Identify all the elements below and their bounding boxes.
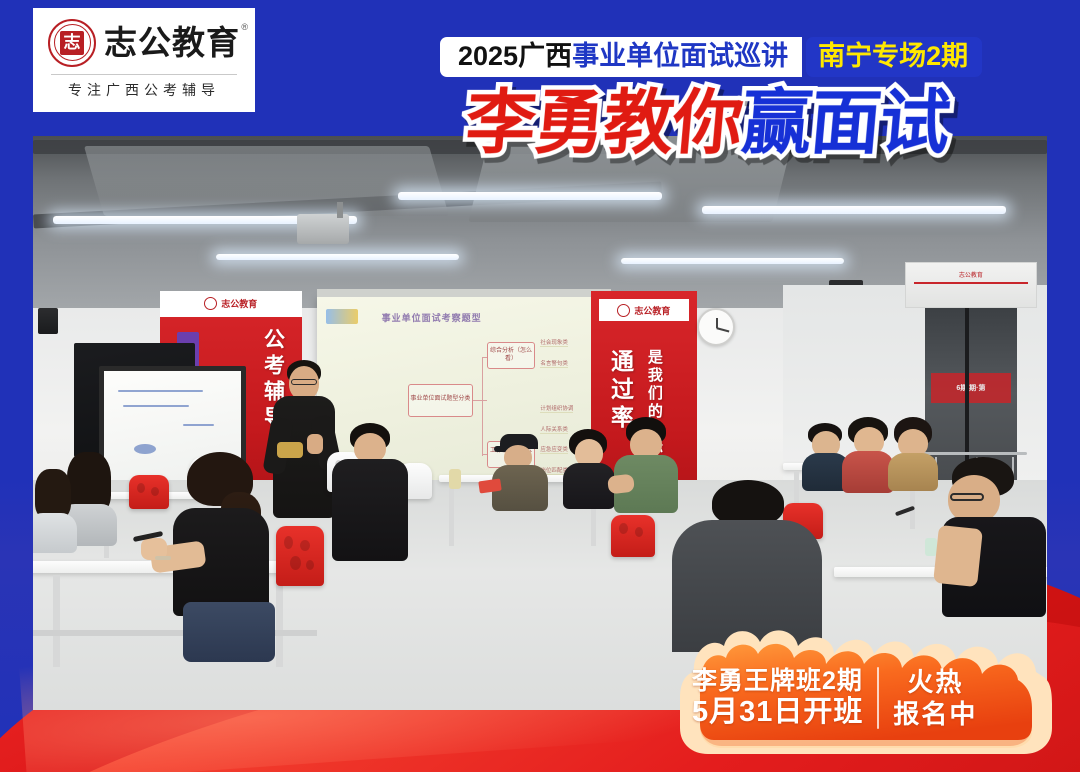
chair-red — [129, 475, 169, 509]
door-header-sign: 志公教育 — [905, 262, 1037, 308]
seal-icon: 志 — [48, 19, 96, 67]
seal-character: 志 — [60, 31, 84, 55]
student-black-shirt — [565, 429, 613, 505]
desk-leg — [449, 483, 454, 546]
class-start-date: 5月31日开班 — [692, 697, 863, 727]
enrollment-badge[interactable]: 李勇王牌班2期 5月31日开班 火热 报名中 — [666, 620, 1066, 760]
student-glasses — [950, 493, 984, 501]
student-cap — [494, 434, 546, 506]
student-foreground-right — [946, 457, 1047, 617]
slide-leaf: 名言警句类 — [540, 359, 568, 368]
ceiling-duct — [84, 146, 449, 216]
seal-icon — [204, 297, 217, 310]
brand-tagline: 专注广西公考辅导 — [68, 80, 220, 100]
door-sign-text: 志公教育 — [906, 270, 1036, 279]
door-sign-rule — [914, 282, 1028, 284]
whiteboard-scribble — [123, 405, 189, 407]
headline-part-blue: 赢面试 — [739, 88, 952, 158]
event-year-region: 2025广西 — [458, 43, 572, 70]
enrollment-status-line1: 火热 — [907, 668, 963, 696]
ceiling-light-tube — [216, 254, 459, 260]
slide-title: 事业单位面试考察题型 — [382, 311, 482, 324]
student-green-shirt — [616, 417, 676, 509]
event-session-badge: 南宁专场2期 — [806, 37, 982, 77]
student-foreground-left — [165, 452, 285, 652]
chair-perforation — [306, 560, 314, 570]
enrollment-status-line2: 报名中 — [893, 700, 977, 728]
slide-leaf: 人际关系类 — [540, 425, 568, 434]
wall-banner-left-logo: 志公教育 — [160, 291, 302, 317]
chair-perforation — [284, 536, 293, 549]
badge-divider — [877, 667, 879, 729]
student-torso — [332, 459, 408, 561]
ceiling-light-tube — [702, 206, 1006, 214]
student-torso — [33, 513, 77, 553]
headline-part-red: 李勇教你 — [463, 88, 745, 158]
enrollment-badge-right: 火热 报名中 — [893, 668, 977, 727]
slide-connector — [482, 357, 483, 456]
water-bottle — [449, 469, 461, 489]
main-headline: 李勇教你赢面试 — [463, 88, 952, 158]
registered-mark: ® — [241, 23, 249, 32]
whiteboard-scribble — [183, 424, 213, 426]
instructor-glasses — [291, 379, 317, 385]
clock-minute-hand — [716, 327, 729, 332]
student-torso — [888, 453, 938, 491]
chair-perforation — [137, 483, 145, 493]
slide-connector — [473, 400, 488, 401]
student-right-c — [890, 417, 936, 487]
class-name: 李勇王牌班2期 — [692, 668, 863, 694]
student-back-left-b — [33, 469, 79, 549]
slide-logo — [326, 309, 358, 323]
wall-speaker — [38, 308, 58, 334]
brand-logo-row: 志 志公教育 ® — [48, 19, 240, 67]
chair-perforation — [635, 527, 643, 537]
ceiling-light-tube — [621, 258, 844, 264]
enrollment-badge-content: 李勇王牌班2期 5月31日开班 火热 报名中 — [692, 658, 1046, 738]
railing — [920, 452, 1026, 455]
brand-logo-card: 志 志公教育 ® 专注广西公考辅导 — [33, 8, 255, 112]
screen-roller — [317, 289, 611, 297]
wall-banner-right-logo: 志公教育 — [599, 299, 688, 321]
student-hair — [35, 469, 71, 519]
projector-mount — [337, 202, 343, 218]
student-right-b — [844, 417, 892, 489]
ceiling-light-tube — [398, 192, 662, 200]
desk-leg — [53, 575, 60, 667]
event-name: 事业单位面试巡讲 — [572, 43, 788, 70]
slide-leaf: 社会现象类 — [540, 338, 568, 347]
event-banner: 2025广西 事业单位面试巡讲 南宁专场2期 — [440, 37, 982, 77]
projector — [297, 214, 349, 244]
chair-perforation — [290, 556, 301, 570]
chair-perforation — [151, 487, 159, 496]
brand-name-text: 志公教育 — [104, 24, 240, 61]
student-torso — [842, 451, 894, 493]
poster-root: 志公教育 公考辅导 事业单位面试考察题型 事业单位面试题型分类 综合分析（怎么看… — [0, 0, 1080, 772]
student-arm — [933, 525, 983, 587]
logo-divider — [51, 74, 237, 75]
whiteboard-scribble — [134, 444, 156, 454]
student-jeans — [183, 602, 275, 662]
chair-perforation — [300, 540, 310, 551]
seal-icon — [617, 304, 630, 317]
chair-red — [611, 515, 655, 557]
far-banner: 6期 期·第 — [931, 373, 1011, 403]
slide-node-top: 综合分析（怎么看） — [487, 342, 534, 369]
slide-leaf: 计划组织协调 — [540, 404, 573, 413]
student-dark-jacket — [332, 423, 408, 563]
slide-node-center: 事业单位面试题型分类 — [408, 384, 473, 417]
student-right-a — [804, 423, 848, 489]
bracelet — [155, 556, 171, 560]
whiteboard-scribble — [118, 390, 203, 392]
instructor-hand — [307, 434, 323, 454]
chair-perforation — [619, 523, 628, 534]
event-banner-pill: 2025广西 事业单位面试巡讲 — [440, 37, 802, 77]
enrollment-badge-left: 李勇王牌班2期 5月31日开班 — [692, 668, 863, 728]
brand-name: 志公教育 ® — [104, 26, 240, 59]
